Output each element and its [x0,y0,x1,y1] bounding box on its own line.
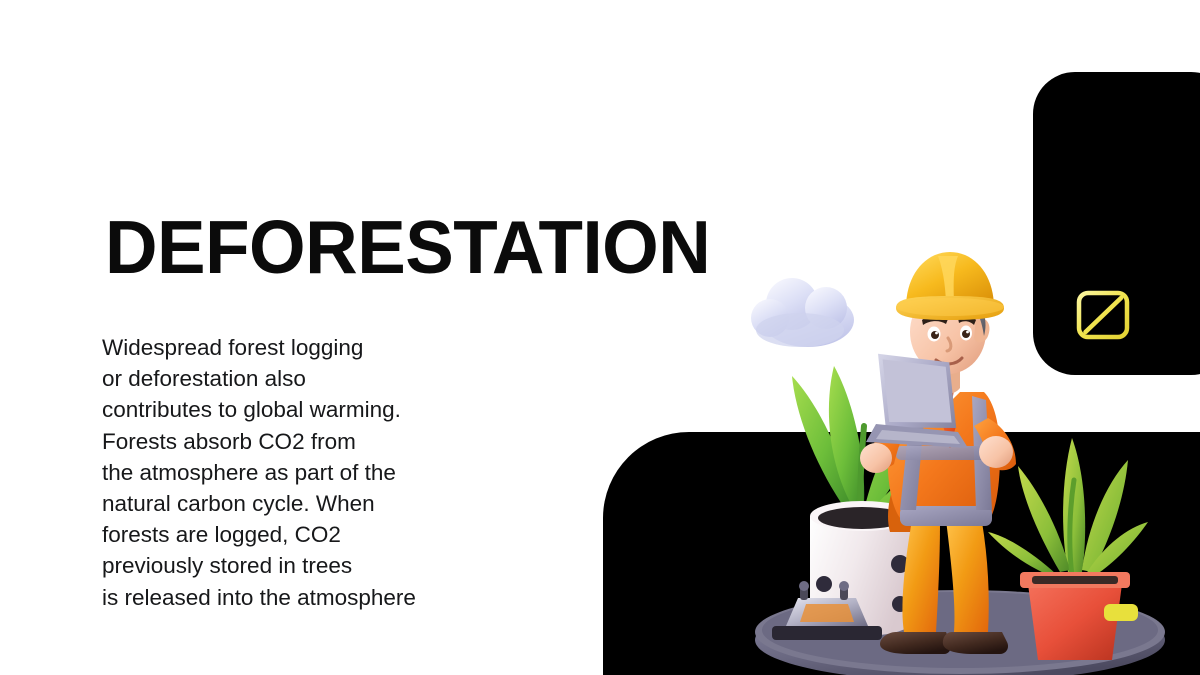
shoe-right [943,632,1008,654]
body-line: or deforestation also [102,363,532,394]
shoe-left [880,632,951,654]
body-line: Widespread forest logging [102,332,532,363]
cloud-icon [751,278,854,347]
body-line: the atmosphere as part of the [102,457,532,488]
body-paragraph: Widespread forest logging or deforestati… [102,332,532,613]
body-line: Forests absorb CO2 from [102,426,532,457]
body-line: contributes to global warming. [102,394,532,425]
slide-canvas: DEFORESTATION Widespread forest logging … [0,0,1200,675]
slashed-square-logo-icon [1075,289,1131,341]
hand-left [860,443,892,473]
pot-tag [1104,604,1138,621]
body-line: previously stored in trees [102,550,532,581]
body-line: forests are logged, CO2 [102,519,532,550]
illustration-3d-worker-scene [700,180,1200,675]
page-title: DEFORESTATION [105,206,710,288]
hard-hat-icon [896,252,1004,320]
hand-right [979,436,1013,468]
body-line: natural carbon cycle. When [102,488,532,519]
body-line: is released into the atmosphere [102,582,532,613]
